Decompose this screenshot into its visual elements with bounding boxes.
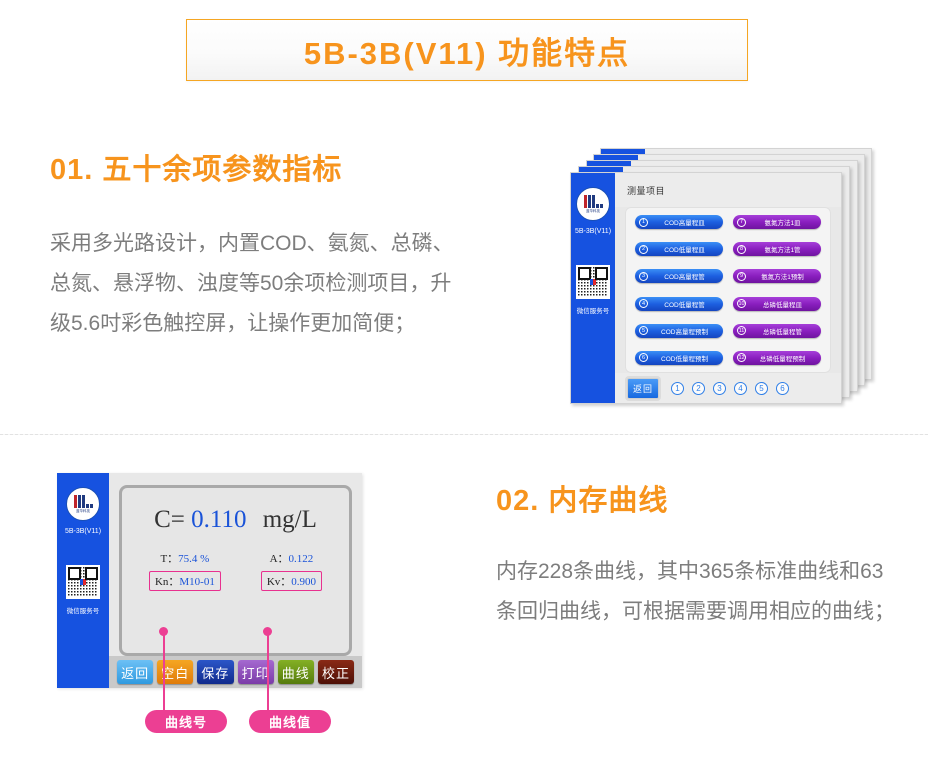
transmittance-label: T： — [160, 553, 178, 565]
concentration-value: 0.110 — [191, 506, 246, 533]
menu-item-number: 11 — [737, 326, 746, 335]
concentration-prefix: C= — [154, 506, 185, 533]
device2-button-5[interactable]: 校正 — [318, 660, 354, 684]
qr-code-icon — [66, 565, 100, 599]
menu-item-label: COD低量程皿 — [652, 244, 723, 254]
logo-subtext: 蓝华科技 — [586, 209, 600, 214]
menu-item-number: 1 — [639, 218, 648, 227]
device2-button-2[interactable]: 保存 — [197, 660, 233, 684]
menu-item-number: 6 — [639, 353, 648, 362]
curve-value-label: Kv： — [267, 576, 291, 588]
menu-item-12[interactable]: 12总磷低量程预制 — [733, 351, 821, 365]
transmittance-absorbance-row: T：75.4 % Kn：M10-01 A：0.122 Kv：0.900 — [149, 550, 322, 591]
menu-item-number: 5 — [639, 326, 648, 335]
title-banner: 5B-3B(V11) 功能特点 — [186, 19, 748, 81]
device2-model-label: 5B-3B(V11) — [65, 528, 101, 535]
page-number-6[interactable]: 6 — [776, 382, 789, 395]
menu-item-label: COD低量程管 — [652, 299, 723, 309]
section-01-heading: 01. 五十余项参数指标 — [50, 146, 342, 188]
section-02-body: 内存228条曲线，其中365条标准曲线和63条回归曲线，可根据需要调用相应的曲线… — [496, 552, 896, 632]
page-number-5[interactable]: 5 — [755, 382, 768, 395]
curve-number-box[interactable]: Kn：M10-01 — [149, 571, 221, 591]
section-divider — [0, 434, 928, 435]
menu-item-number: 3 — [639, 272, 648, 281]
callout-curve-value: 曲线值 — [249, 710, 331, 733]
device2-button-4[interactable]: 曲线 — [278, 660, 314, 684]
curve-value-value: 0.900 — [291, 576, 316, 588]
menu-item-number: 8 — [737, 245, 746, 254]
menu-item-6[interactable]: 6COD低量程预制 — [635, 351, 723, 365]
device-screenshot-result: 蓝华科技 5B-3B(V11) 微信服务号 C= 0.110 mg/L — [57, 473, 362, 688]
section-01-body: 采用多光路设计，内置COD、氨氮、总磷、总氮、悬浮物、浊度等50余项检测项目，升… — [50, 224, 460, 344]
device1-screen-header: 测量项目 — [615, 173, 841, 207]
absorbance-label: A： — [270, 553, 289, 565]
menu-item-3[interactable]: 3COD高量程管 — [635, 269, 723, 283]
company-logo-icon: 蓝华科技 — [576, 187, 610, 221]
menu-item-5[interactable]: 5COD高量程预制 — [635, 324, 723, 338]
page-number-4[interactable]: 4 — [734, 382, 747, 395]
page-number-2[interactable]: 2 — [692, 382, 705, 395]
device1-footer-bar: 返回 123456 — [615, 373, 841, 403]
device-screenshot-measurement-items: 蓝华科技 5B-3B(V11) 微信服务号 测量项目 1COD高量程皿2COD低… — [570, 148, 880, 406]
menu-item-number: 2 — [639, 245, 648, 254]
measurement-menu: 1COD高量程皿2COD低量程皿3COD高量程管4COD低量程管5COD高量程预… — [625, 207, 831, 373]
menu-item-label: 总磷低量程皿 — [750, 299, 821, 309]
menu-column-left: 1COD高量程皿2COD低量程皿3COD高量程管4COD低量程管5COD高量程预… — [635, 215, 723, 365]
menu-item-9[interactable]: 9氨氮方法1预制 — [733, 269, 821, 283]
menu-item-label: COD高量程皿 — [652, 217, 723, 227]
menu-column-right: 7氨氮方法1皿8氨氮方法1管9氨氮方法1预制10总磷低量程皿11总磷低量程管12… — [733, 215, 821, 365]
menu-item-label: 氨氮方法1皿 — [750, 217, 821, 227]
menu-item-label: COD高量程管 — [652, 271, 723, 281]
page-number-1[interactable]: 1 — [671, 382, 684, 395]
device1-side-panel: 蓝华科技 5B-3B(V11) 微信服务号 — [571, 173, 615, 403]
menu-item-label: COD低量程预制 — [652, 353, 723, 363]
callout-line-curve-number — [163, 631, 165, 710]
company-logo-icon: 蓝华科技 — [66, 487, 100, 521]
transmittance-value: 75.4 % — [178, 553, 209, 565]
menu-item-label: 总磷低量程预制 — [750, 353, 821, 363]
menu-item-11[interactable]: 11总磷低量程管 — [733, 324, 821, 338]
measurement-readout-panel: C= 0.110 mg/L T：75.4 % Kn：M10-01 — [119, 485, 352, 656]
device1-qr-label: 微信服务号 — [577, 305, 610, 315]
menu-item-label: 氨氮方法1管 — [750, 244, 821, 254]
menu-item-number: 7 — [737, 218, 746, 227]
menu-item-2[interactable]: 2COD低量程皿 — [635, 242, 723, 256]
absorbance-line: A：0.122 — [261, 550, 322, 566]
back-button[interactable]: 返回 — [627, 378, 659, 399]
menu-item-label: COD高量程预制 — [652, 326, 723, 336]
absorbance-cell: A：0.122 Kv：0.900 — [261, 550, 322, 591]
transmittance-line: T：75.4 % — [149, 550, 221, 566]
device2-button-0[interactable]: 返回 — [117, 660, 153, 684]
device1-screen-title: 测量项目 — [627, 184, 665, 197]
section-02-heading: 02. 内存曲线 — [496, 477, 668, 519]
device1-screen: 测量项目 1COD高量程皿2COD低量程皿3COD高量程管4COD低量程管5CO… — [615, 173, 841, 403]
menu-item-1[interactable]: 1COD高量程皿 — [635, 215, 723, 229]
menu-item-7[interactable]: 7氨氮方法1皿 — [733, 215, 821, 229]
menu-item-number: 4 — [639, 299, 648, 308]
menu-item-number: 9 — [737, 272, 746, 281]
logo-subtext: 蓝华科技 — [76, 509, 90, 514]
curve-value-box[interactable]: Kv：0.900 — [261, 571, 322, 591]
transmittance-cell: T：75.4 % Kn：M10-01 — [149, 550, 221, 591]
menu-item-4[interactable]: 4COD低量程管 — [635, 297, 723, 311]
menu-item-10[interactable]: 10总磷低量程皿 — [733, 297, 821, 311]
stack-card-front: 蓝华科技 5B-3B(V11) 微信服务号 测量项目 1COD高量程皿2COD低… — [570, 172, 842, 404]
device2-qr-label: 微信服务号 — [67, 605, 100, 615]
absorbance-value: 0.122 — [289, 553, 314, 565]
menu-item-number: 10 — [737, 299, 746, 308]
device2-side-panel: 蓝华科技 5B-3B(V11) 微信服务号 — [57, 473, 109, 688]
menu-item-label: 总磷低量程管 — [750, 326, 821, 336]
menu-item-number: 12 — [737, 353, 746, 362]
menu-item-label: 氨氮方法1预制 — [750, 271, 821, 281]
curve-number-value: M10-01 — [179, 576, 214, 588]
page-number-group: 123456 — [671, 382, 789, 395]
qr-code-icon — [576, 265, 610, 299]
menu-item-8[interactable]: 8氨氮方法1管 — [733, 242, 821, 256]
concentration-line: C= 0.110 mg/L — [154, 506, 317, 534]
page-number-3[interactable]: 3 — [713, 382, 726, 395]
concentration-unit: mg/L — [263, 506, 317, 533]
device1-model-label: 5B-3B(V11) — [575, 228, 611, 235]
device2-screen: C= 0.110 mg/L T：75.4 % Kn：M10-01 — [109, 473, 362, 688]
page-root: 5B-3B(V11) 功能特点 01. 五十余项参数指标 采用多光路设计，内置C… — [0, 0, 928, 766]
callout-line-curve-value — [267, 631, 269, 710]
curve-number-label: Kn： — [155, 576, 179, 588]
callout-curve-number: 曲线号 — [145, 710, 227, 733]
device2-button-row: 返回空白保存打印曲线校正 — [109, 656, 362, 688]
page-title: 5B-3B(V11) 功能特点 — [304, 28, 630, 73]
